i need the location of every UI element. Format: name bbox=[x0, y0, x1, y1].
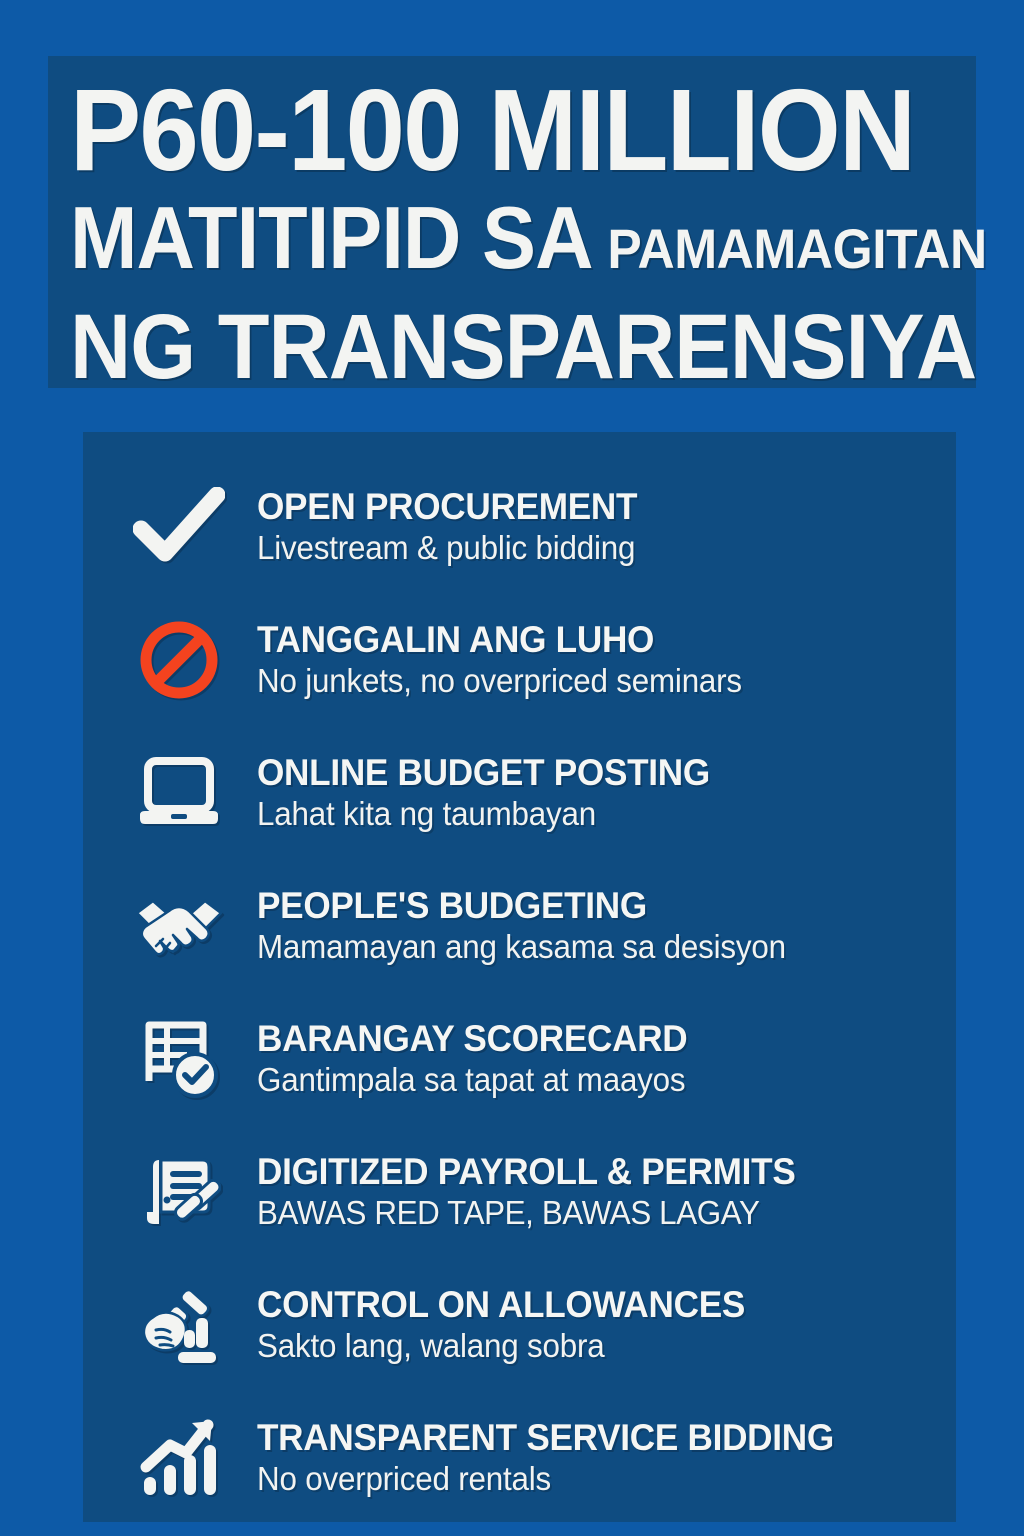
list-item-subtitle: Sakto lang, walang sobra bbox=[257, 1326, 745, 1366]
list-item-title: BARANGAY SCORECARD bbox=[257, 1018, 687, 1060]
list-item: DIGITIZED PAYROLL & PERMITS BAWAS RED TA… bbox=[83, 1125, 956, 1258]
list-item: PEOPLE'S BUDGETING Mamamayan ang kasama … bbox=[83, 859, 956, 992]
list-item-subtitle: Lahat kita ng taumbayan bbox=[257, 794, 710, 834]
list-item-title: PEOPLE'S BUDGETING bbox=[257, 885, 786, 927]
infographic-poster: P60-100 MILLION MATITIPID SA PAMAMAGITAN… bbox=[0, 0, 1024, 1536]
list-item-title: TANGGALIN ANG LUHO bbox=[257, 619, 742, 661]
list-item-text: TANGGALIN ANG LUHO No junkets, no overpr… bbox=[243, 619, 767, 701]
headline-line-2-small: PAMAMAGITAN bbox=[607, 201, 986, 297]
headline-line-3: NG TRANSPARENSIYA bbox=[70, 297, 883, 397]
list-item-title: TRANSPARENT SERVICE BIDDING bbox=[257, 1417, 834, 1459]
list-item-subtitle: No overpriced rentals bbox=[257, 1459, 834, 1499]
headline-line-2: MATITIPID SA PAMAMAGITAN bbox=[70, 190, 883, 297]
list-item-text: TRANSPARENT SERVICE BIDDING No overprice… bbox=[243, 1417, 864, 1499]
list-item: CONTROL ON ALLOWANCES Sakto lang, walang… bbox=[83, 1258, 956, 1391]
list-item-subtitle: BAWAS RED TAPE, BAWAS LAGAY bbox=[257, 1193, 795, 1233]
document-pen-icon bbox=[115, 1150, 243, 1234]
list-item-subtitle: Mamamayan ang kasama sa desisyon bbox=[257, 927, 786, 967]
list-item: OPEN PROCUREMENT Livestream & public bid… bbox=[83, 460, 956, 593]
list-item-subtitle: Gantimpala sa tapat at maayos bbox=[257, 1060, 687, 1100]
headline-amount: P60-100 MILLION bbox=[70, 70, 883, 190]
prohibition-icon bbox=[115, 618, 243, 702]
gavel-icon bbox=[115, 1284, 243, 1366]
scorecard-check-icon bbox=[115, 1017, 243, 1101]
list-item: TRANSPARENT SERVICE BIDDING No overprice… bbox=[83, 1391, 956, 1524]
list-item-title: ONLINE BUDGET POSTING bbox=[257, 752, 710, 794]
check-icon bbox=[115, 487, 243, 567]
list-item: TANGGALIN ANG LUHO No junkets, no overpr… bbox=[83, 593, 956, 726]
list-item-text: PEOPLE'S BUDGETING Mamamayan ang kasama … bbox=[243, 885, 814, 967]
list-item-text: OPEN PROCUREMENT Livestream & public bid… bbox=[243, 486, 657, 568]
list-item-title: OPEN PROCUREMENT bbox=[257, 486, 637, 528]
header-panel: P60-100 MILLION MATITIPID SA PAMAMAGITAN… bbox=[48, 56, 976, 388]
list-item-text: ONLINE BUDGET POSTING Lahat kita ng taum… bbox=[243, 752, 734, 834]
list-item-subtitle: No junkets, no overpriced seminars bbox=[257, 661, 742, 701]
growth-chart-icon bbox=[115, 1415, 243, 1501]
list-item-text: CONTROL ON ALLOWANCES Sakto lang, walang… bbox=[243, 1284, 771, 1366]
laptop-icon bbox=[115, 757, 243, 829]
list-item-title: DIGITIZED PAYROLL & PERMITS bbox=[257, 1151, 795, 1193]
list-item-text: DIGITIZED PAYROLL & PERMITS BAWAS RED TA… bbox=[243, 1151, 824, 1233]
list-item: ONLINE BUDGET POSTING Lahat kita ng taum… bbox=[83, 726, 956, 859]
benefits-list-panel: OPEN PROCUREMENT Livestream & public bid… bbox=[83, 432, 956, 1522]
list-item-title: CONTROL ON ALLOWANCES bbox=[257, 1284, 745, 1326]
list-item-text: BARANGAY SCORECARD Gantimpala sa tapat a… bbox=[243, 1018, 710, 1100]
headline-line-2-main: MATITIPID SA bbox=[70, 190, 593, 286]
list-item-subtitle: Livestream & public bidding bbox=[257, 528, 637, 568]
list-item: BARANGAY SCORECARD Gantimpala sa tapat a… bbox=[83, 992, 956, 1125]
handshake-icon bbox=[115, 889, 243, 963]
